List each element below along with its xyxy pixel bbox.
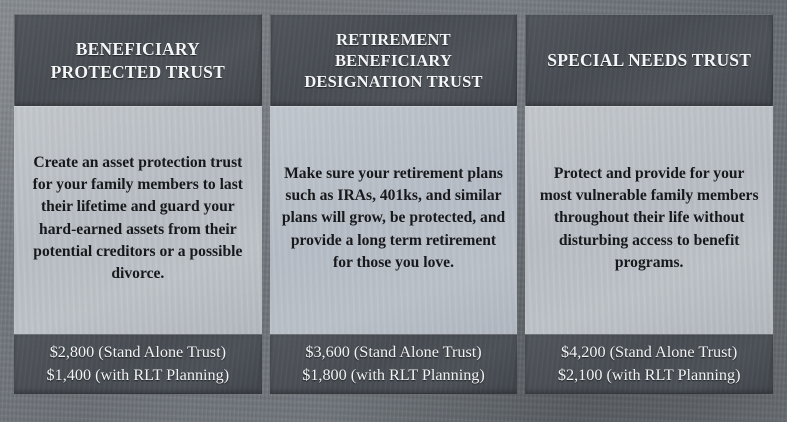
trust-comparison-poster: BENEFICIARY PROTECTED TRUST Create an as… xyxy=(0,0,787,422)
trust-title-beneficiary-protected-trust: BENEFICIARY PROTECTED TRUST xyxy=(14,14,262,106)
price-with-rlt: $1,800 (with RLT Planning) xyxy=(302,364,485,387)
trust-description-text: Make sure your retirement plans such as … xyxy=(282,163,506,274)
trust-title-special-needs-trust: SPECIAL NEEDS TRUST xyxy=(525,14,773,106)
price-standalone: $4,200 (Stand Alone Trust) xyxy=(561,341,737,364)
trust-price-panel-beneficiary-protected-trust: $2,800 (Stand Alone Trust) $1,400 (with … xyxy=(14,334,262,394)
trust-description-text: Protect and provide for your most vulner… xyxy=(537,163,761,274)
trust-column-special-needs-trust: SPECIAL NEEDS TRUST Protect and provide … xyxy=(525,14,773,394)
trust-column-beneficiary-protected-trust: BENEFICIARY PROTECTED TRUST Create an as… xyxy=(14,14,262,394)
trust-columns-container: BENEFICIARY PROTECTED TRUST Create an as… xyxy=(14,14,773,394)
trust-description-text: Create an asset protection trust for you… xyxy=(26,152,250,285)
trust-description-panel-retirement-beneficiary-designation-trust: Make sure your retirement plans such as … xyxy=(270,106,518,334)
trust-column-retirement-beneficiary-designation-trust: RETIREMENT BENEFICIARY DESIGNATION TRUST… xyxy=(270,14,518,394)
price-standalone: $3,600 (Stand Alone Trust) xyxy=(305,341,481,364)
trust-description-panel-special-needs-trust: Protect and provide for your most vulner… xyxy=(525,106,773,334)
price-with-rlt: $1,400 (with RLT Planning) xyxy=(47,364,230,387)
price-standalone: $2,800 (Stand Alone Trust) xyxy=(50,341,226,364)
trust-price-panel-special-needs-trust: $4,200 (Stand Alone Trust) $2,100 (with … xyxy=(525,334,773,394)
price-with-rlt: $2,100 (with RLT Planning) xyxy=(558,364,741,387)
trust-title-retirement-beneficiary-designation-trust: RETIREMENT BENEFICIARY DESIGNATION TRUST xyxy=(270,14,518,106)
trust-description-panel-beneficiary-protected-trust: Create an asset protection trust for you… xyxy=(14,106,262,334)
trust-price-panel-retirement-beneficiary-designation-trust: $3,600 (Stand Alone Trust) $1,800 (with … xyxy=(270,334,518,394)
